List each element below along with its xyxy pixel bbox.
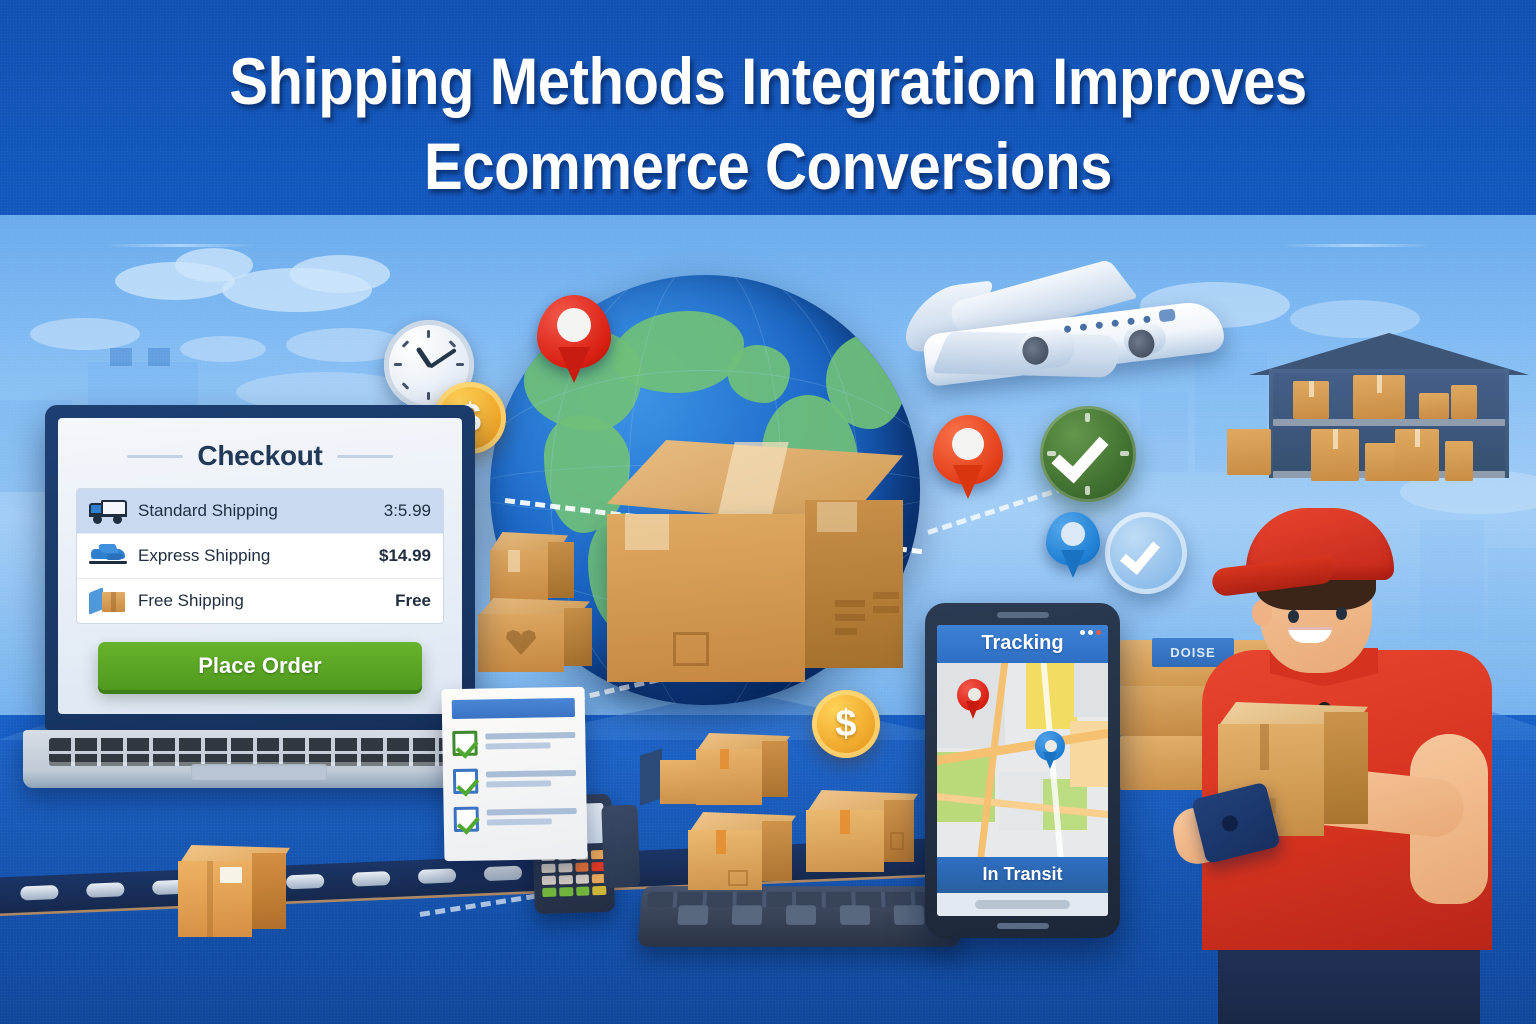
- delivery-person: [1160, 490, 1520, 1024]
- shipping-option-label: Standard Shipping: [138, 501, 384, 521]
- list-item: [454, 805, 577, 832]
- conveyor-box-back: [682, 733, 798, 813]
- laptop-base: [23, 730, 497, 788]
- laptop-keyboard[interactable]: [49, 738, 449, 766]
- title-rule-right: [1281, 244, 1431, 247]
- tracking-header: Tracking: [937, 625, 1108, 663]
- checkout-header: Checkout: [76, 440, 444, 472]
- clipboard-header-bar: [452, 698, 575, 719]
- laptop-trackpad[interactable]: [191, 764, 327, 780]
- shipping-options-list[interactable]: Standard Shipping 3:5.99 Express Shippin…: [76, 488, 444, 624]
- list-item-lines: [485, 731, 575, 753]
- coin-symbol: $: [835, 703, 856, 746]
- warehouse-icon: [1255, 333, 1523, 478]
- phone-speaker: [997, 612, 1049, 618]
- list-item-lines: [486, 769, 576, 791]
- airplane-icon: [89, 543, 129, 569]
- tracking-map[interactable]: [937, 663, 1108, 857]
- checkbox-checked-icon[interactable]: [454, 807, 479, 832]
- free-box-icon: [89, 588, 129, 614]
- roller-conveyor-box: [168, 845, 298, 950]
- phone-screen: Tracking: [937, 625, 1108, 916]
- checkout-screen: Checkout Standard Shipping 3:5.99: [58, 418, 462, 714]
- title-line-1: Shipping Methods Integration Improves: [92, 48, 1444, 115]
- shipping-option-free[interactable]: Free Shipping Free: [77, 579, 443, 623]
- checkout-title: Checkout: [197, 440, 322, 472]
- dollar-coin-icon-2: $: [812, 690, 880, 758]
- map-pin-blue: [1046, 512, 1100, 578]
- header-rule-right: [337, 455, 393, 458]
- phone-home-button[interactable]: [997, 923, 1049, 929]
- title-rule-left: [105, 244, 255, 247]
- phone-status-dots: [1080, 630, 1101, 635]
- shipping-option-standard[interactable]: Standard Shipping 3:5.99: [77, 489, 443, 534]
- header-rule-left: [127, 455, 183, 458]
- map-pin-red-right: [933, 415, 1003, 499]
- shipping-option-price: $14.99: [379, 546, 431, 566]
- shipping-option-label: Express Shipping: [138, 546, 379, 566]
- list-item-lines: [487, 807, 577, 829]
- title-line-2: Ecommerce Conversions: [92, 133, 1444, 200]
- laptop-lid: Checkout Standard Shipping 3:5.99: [45, 405, 475, 730]
- place-order-button[interactable]: Place Order: [98, 642, 422, 690]
- conveyor-box-1: [672, 812, 800, 902]
- laptop-checkout: Checkout Standard Shipping 3:5.99: [45, 405, 475, 788]
- poster-scene: Shipping Methods Integration Improves Ec…: [0, 0, 1536, 1024]
- shipping-option-express[interactable]: Express Shipping $14.99: [77, 534, 443, 579]
- shipping-option-label: Free Shipping: [138, 591, 395, 611]
- checklist-clipboard-icon: [442, 687, 588, 861]
- list-item: [453, 767, 576, 794]
- checkbox-checked-icon[interactable]: [453, 769, 478, 794]
- main-package-box: [585, 440, 925, 690]
- map-pin-red-top: [537, 295, 611, 381]
- shipping-option-price: 3:5.99: [384, 501, 431, 521]
- list-item: [452, 729, 575, 756]
- verified-check-badge-icon: [1040, 406, 1136, 502]
- person-eye-right: [1336, 607, 1347, 620]
- checkbox-checked-icon[interactable]: [452, 731, 477, 756]
- tracking-status: In Transit: [937, 857, 1108, 893]
- conveyor-box-2: [790, 790, 922, 886]
- shipping-option-price: Free: [395, 591, 431, 611]
- delivery-truck-icon: [89, 498, 129, 524]
- tracking-header-label: Tracking: [981, 632, 1063, 654]
- phone-home-bar[interactable]: [937, 893, 1108, 916]
- card-reader-dock: [601, 805, 640, 888]
- page-title: Shipping Methods Integration Improves Ec…: [0, 48, 1536, 201]
- person-eye-left: [1288, 610, 1299, 623]
- tracking-phone: Tracking: [925, 603, 1120, 938]
